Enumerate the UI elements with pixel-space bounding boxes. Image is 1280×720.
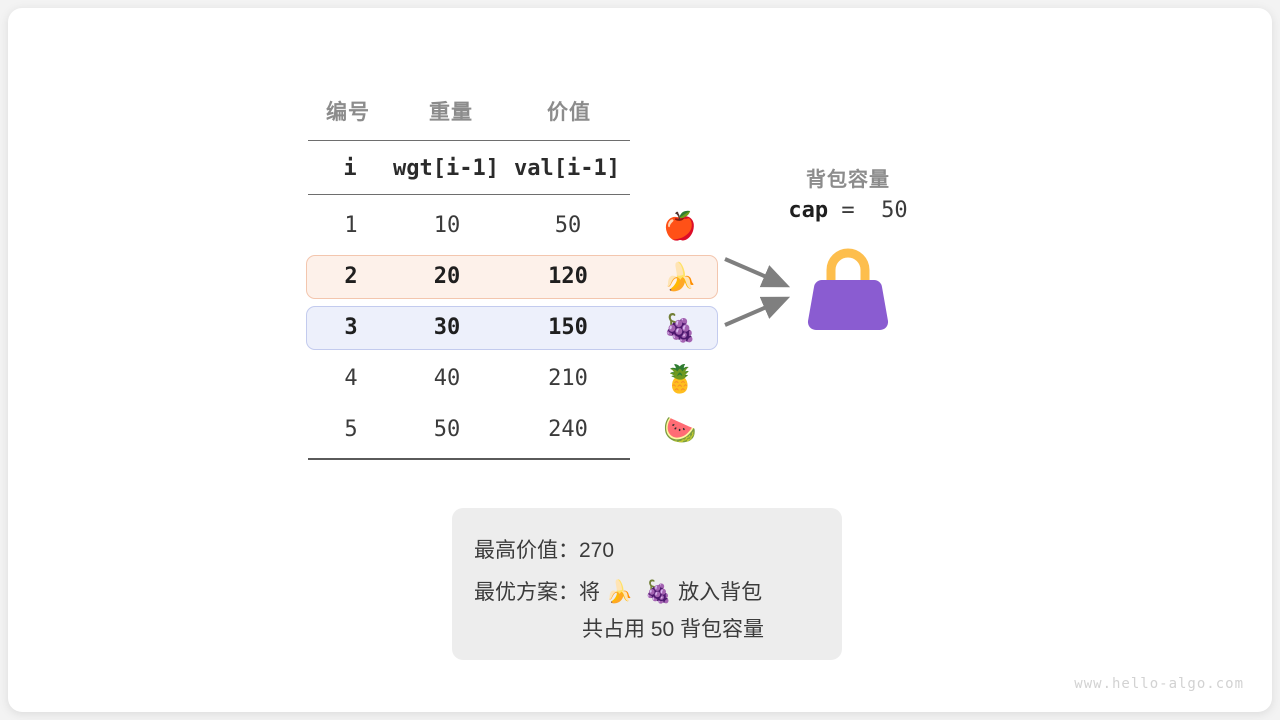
optimal-plan-prefix: 最优方案：将 — [474, 581, 606, 604]
banana-emoji: 🍌 — [606, 579, 633, 604]
cell-value: 150 — [505, 315, 631, 340]
max-value-text: 最高价值：270 — [474, 534, 614, 564]
cell-index: 5 — [315, 417, 387, 442]
cell-weight: 30 — [387, 315, 507, 340]
knapsack-bag-icon — [803, 240, 893, 336]
cell-weight: 20 — [387, 264, 507, 289]
table-rule-top — [308, 140, 630, 141]
column-header-index: 编号 — [308, 96, 388, 126]
table-row: 1 10 50 🍎 — [306, 204, 718, 248]
column-header-weight: 重量 — [408, 96, 494, 126]
table-rule-bottom — [308, 458, 630, 460]
cell-value: 240 — [505, 417, 631, 442]
cell-value: 120 — [505, 264, 631, 289]
selection-arrows — [723, 253, 803, 343]
grapes-emoji: 🍇 — [659, 309, 701, 349]
column-header-value: 价值 — [526, 96, 612, 126]
knapsack-capacity-expression: cap = 50 — [748, 198, 948, 223]
cell-value: 210 — [505, 366, 631, 391]
cell-index: 4 — [315, 366, 387, 391]
watermark: www.hello-algo.com — [1074, 676, 1244, 692]
code-header-i: i — [314, 156, 386, 181]
watermelon-emoji: 🍉 — [659, 411, 701, 451]
cap-value: = 50 — [828, 198, 907, 223]
cell-index: 1 — [315, 213, 387, 238]
total-capacity-used-text: 共占用 50 背包容量 — [582, 613, 764, 643]
table-row: 4 40 210 🍍 — [306, 357, 718, 401]
banana-emoji: 🍌 — [659, 258, 701, 298]
knapsack-capacity-label: 背包容量 — [748, 163, 948, 192]
cell-index: 3 — [315, 315, 387, 340]
table-row: 5 50 240 🍉 — [306, 408, 718, 452]
cell-index: 2 — [315, 264, 387, 289]
cell-weight: 50 — [387, 417, 507, 442]
table-rule-mid — [308, 194, 630, 195]
bag-handle — [831, 253, 865, 284]
optimal-plan-text: 最优方案：将 🍌 🍇 放入背包 — [474, 576, 762, 606]
table-row-selected-grapes: 3 30 150 🍇 — [306, 306, 718, 350]
optimal-plan-suffix: 放入背包 — [672, 581, 762, 604]
cell-weight: 40 — [387, 366, 507, 391]
cell-value: 50 — [505, 213, 631, 238]
table-row-selected-banana: 2 20 120 🍌 — [306, 255, 718, 299]
code-header-val: val[i-1] — [504, 156, 630, 181]
arrow-banana-to-bag — [725, 259, 785, 285]
apple-emoji: 🍎 — [659, 207, 701, 247]
diagram-card: 编号 重量 价值 i wgt[i-1] val[i-1] 1 10 50 🍎 2… — [8, 8, 1272, 712]
bag-body — [808, 280, 888, 330]
arrow-grapes-to-bag — [725, 299, 785, 325]
cell-weight: 10 — [387, 213, 507, 238]
code-header-wgt: wgt[i-1] — [386, 156, 506, 181]
result-summary-box: 最高价值：270 最优方案：将 🍌 🍇 放入背包 共占用 50 背包容量 — [452, 508, 842, 660]
grapes-emoji: 🍇 — [645, 579, 672, 604]
table-column-headers: 编号 重量 价值 — [308, 96, 728, 140]
item-table: 编号 重量 价值 i wgt[i-1] val[i-1] 1 10 50 🍎 2… — [308, 96, 728, 140]
table-code-header-row: i wgt[i-1] val[i-1] — [308, 151, 630, 191]
pineapple-emoji: 🍍 — [659, 360, 701, 400]
cap-keyword: cap — [788, 198, 828, 223]
